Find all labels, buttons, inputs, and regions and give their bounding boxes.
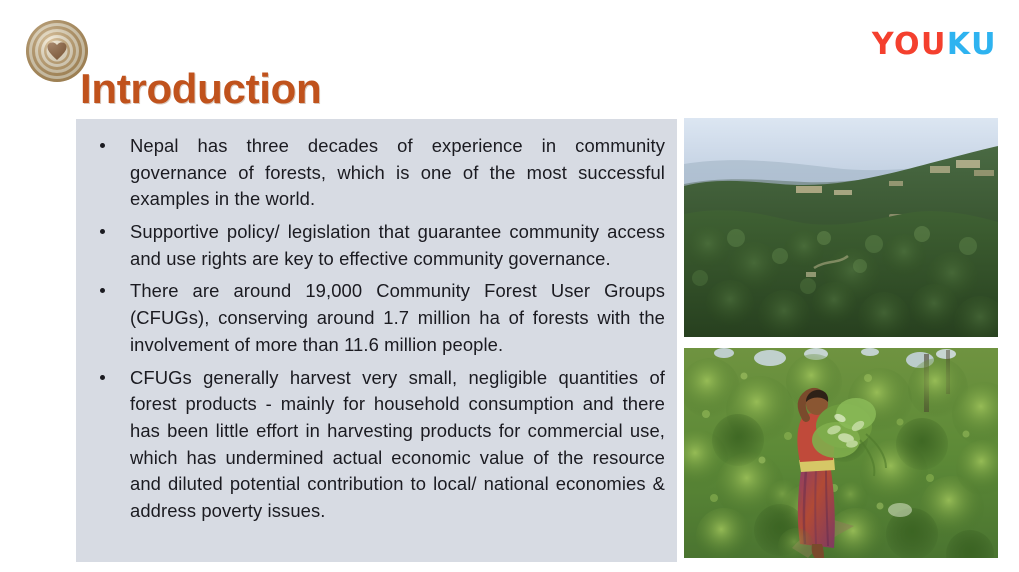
list-item: Nepal has three decades of experience in… [88,133,665,213]
bullet-text: Nepal has three decades of experience in… [130,133,665,213]
bullet-list: Nepal has three decades of experience in… [88,133,665,525]
bullet-dot-icon [100,143,105,148]
youku-watermark-ku: KU [947,27,997,62]
bullet-dot-icon [100,288,105,293]
content-panel: Nepal has three decades of experience in… [76,119,677,562]
bullet-text: Supportive policy/ legislation that guar… [130,219,665,272]
bullet-dot-icon [100,229,105,234]
forest-harvest-photo [684,348,998,558]
list-item: There are around 19,000 Community Forest… [88,278,665,358]
youku-watermark-you: YOU [872,27,947,62]
slide-canvas: YOUKU Introduction Nepal has three decad… [0,0,1019,572]
list-item: Supportive policy/ legislation that guar… [88,219,665,272]
youku-watermark: YOUKU [872,30,997,60]
list-item: CFUGs generally harvest very small, negl… [88,365,665,525]
bullet-text: CFUGs generally harvest very small, negl… [130,365,665,525]
page-title: Introduction [80,68,321,110]
bullet-dot-icon [100,375,105,380]
bullet-text: There are around 19,000 Community Forest… [130,278,665,358]
forest-hillside-photo [684,118,998,337]
